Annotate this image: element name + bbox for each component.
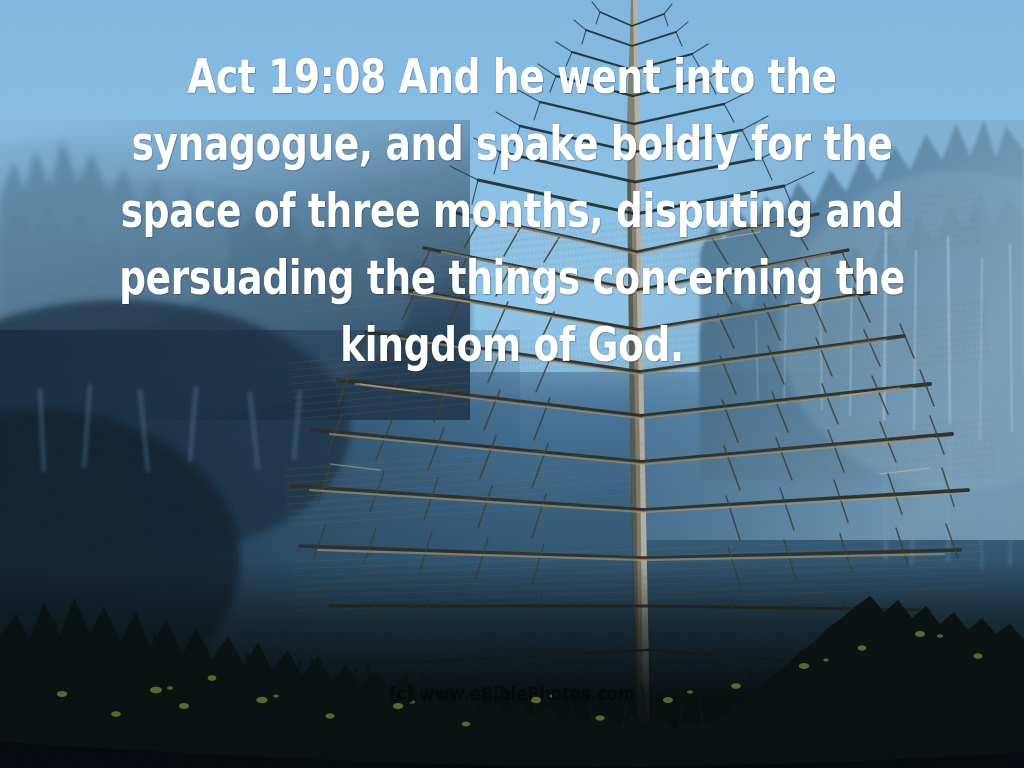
lake-forest-photograph bbox=[0, 0, 1024, 768]
scripture-photo-scene: Act 19:08 And he went into the synagogue… bbox=[0, 0, 1024, 768]
